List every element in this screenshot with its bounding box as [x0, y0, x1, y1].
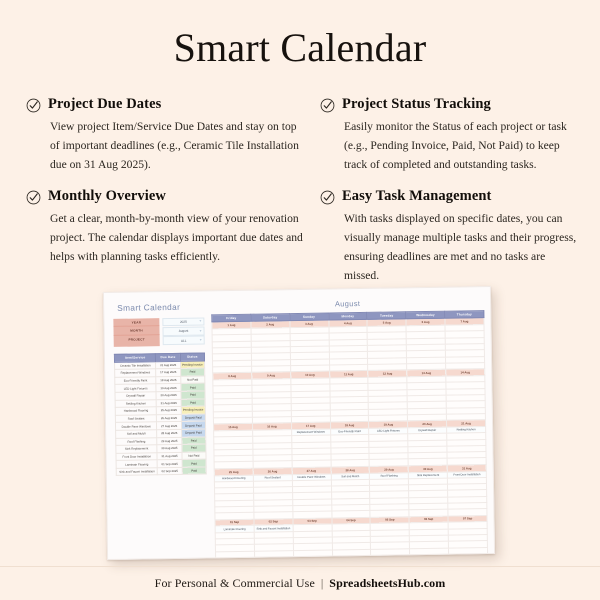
feature-project-due-dates: Project Due Dates View project Item/Serv… — [26, 96, 312, 174]
spreadsheet-mockup-area: Smart Calendar YEAR MONTH PROJECT 2025 A… — [0, 283, 600, 566]
item-service-table: Item/Service Due Date Status Ceramic Til… — [114, 352, 207, 476]
check-circle-icon — [26, 190, 41, 205]
feature-description: View project Item/Service Due Dates and … — [50, 118, 308, 174]
calendar-empty-cell[interactable] — [371, 548, 410, 555]
feature-project-status-tracking: Project Status Tracking Easily monitor t… — [320, 96, 578, 174]
feature-description: Easily monitor the Status of each projec… — [344, 118, 578, 174]
feature-heading: Monthly Overview — [26, 188, 312, 205]
cell-due-date: 02 Sep 2025 — [158, 467, 182, 475]
spreadsheet-mockup-card[interactable]: Smart Calendar YEAR MONTH PROJECT 2025 A… — [103, 286, 495, 560]
filter-dropdown-project[interactable]: ALL — [163, 336, 205, 345]
calendar-body: 1 Aug2 Aug3 Aug4 Aug5 Aug6 Aug7 Aug8 Aug… — [212, 318, 488, 558]
page-title: Smart Calendar — [0, 0, 600, 70]
feature-title: Project Due Dates — [48, 96, 161, 113]
feature-title: Easy Task Management — [342, 188, 491, 205]
feature-monthly-overview: Monthly Overview Get a clear, month-by-m… — [26, 188, 312, 285]
filter-controls: YEAR MONTH PROJECT 2025 August ALL — [113, 317, 204, 346]
table-row[interactable]: Sink and Faucet Installation02 Sep 2025P… — [116, 467, 206, 476]
calendar-empty-cell[interactable] — [332, 549, 371, 556]
feature-description: With tasks displayed on specific dates, … — [344, 210, 578, 285]
filter-dropdown-month[interactable]: August — [162, 327, 204, 336]
feature-easy-task-management: Easy Task Management With tasks displaye… — [320, 188, 578, 285]
footer-separator: | — [321, 576, 323, 591]
mockup-brand-label: Smart Calendar — [113, 298, 204, 318]
mockup-calendar-panel: August FridaySaturdaySundayMondayTuesday… — [208, 294, 488, 557]
calendar-empty-cell[interactable] — [410, 548, 449, 555]
footer: For Personal & Commercial Use | Spreadsh… — [0, 566, 600, 600]
feature-heading: Project Due Dates — [26, 96, 312, 113]
calendar-empty-cell[interactable] — [293, 550, 332, 557]
check-circle-icon — [26, 98, 41, 113]
filter-dropdown-year[interactable]: 2025 — [162, 317, 204, 326]
feature-title: Project Status Tracking — [342, 96, 491, 113]
footer-brand-link[interactable]: SpreadsheetsHub.com — [329, 576, 445, 591]
status-badge: Paid — [182, 467, 206, 475]
filter-label-project: PROJECT — [114, 335, 160, 344]
calendar-empty-cell[interactable] — [449, 547, 488, 554]
filter-dropdowns: 2025 August ALL — [162, 317, 204, 345]
item-table-body: Ceramic Tile Installation31 Aug 2025Pend… — [115, 361, 207, 476]
feature-heading: Project Status Tracking — [320, 96, 578, 113]
calendar-empty-cell[interactable] — [216, 551, 255, 558]
feature-heading: Easy Task Management — [320, 188, 578, 205]
mockup-left-panel: Smart Calendar YEAR MONTH PROJECT 2025 A… — [113, 298, 212, 558]
footer-usage-text: For Personal & Commercial Use — [155, 576, 315, 591]
check-circle-icon — [320, 98, 335, 113]
cell-item-service: Sink and Faucet Installation — [116, 468, 158, 476]
calendar-grid: FridaySaturdaySundayMondayTuesdayWednesd… — [211, 310, 488, 558]
feature-description: Get a clear, month-by-month view of your… — [50, 210, 308, 266]
check-circle-icon — [320, 190, 335, 205]
feature-list: Project Due Dates View project Item/Serv… — [0, 96, 600, 285]
filter-labels: YEAR MONTH PROJECT — [113, 318, 159, 346]
calendar-empty-cell[interactable] — [254, 550, 293, 557]
feature-title: Monthly Overview — [48, 188, 166, 205]
